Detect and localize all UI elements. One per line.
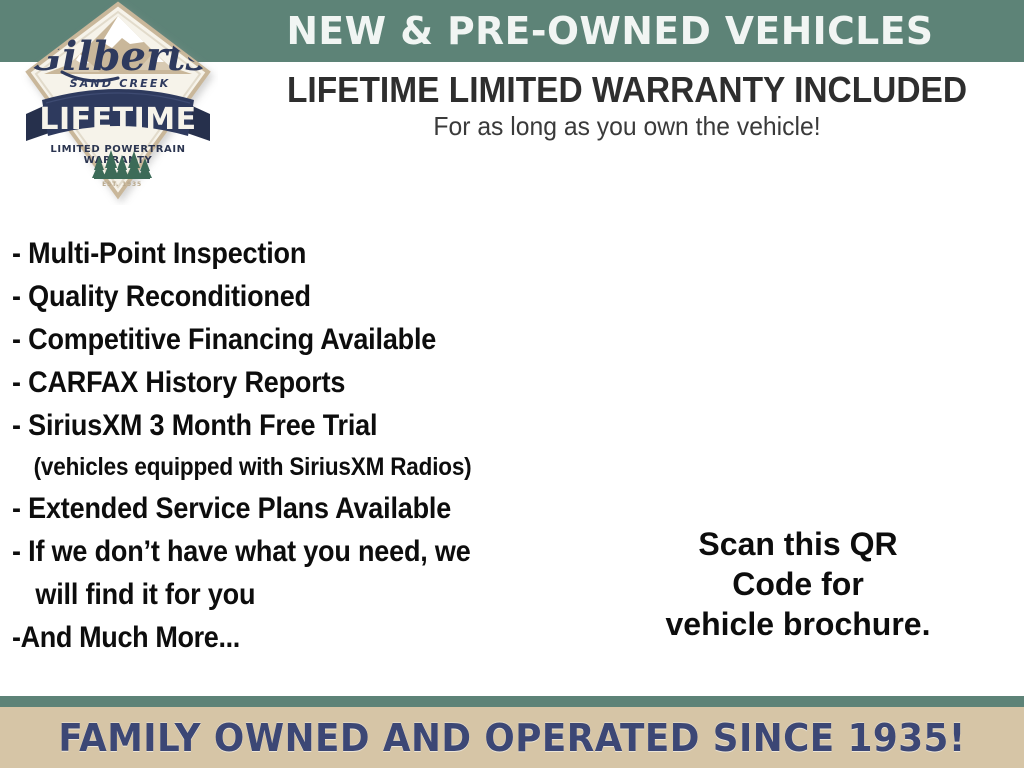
list-item: - Quality Reconditioned	[12, 275, 552, 318]
list-item-continuation: will find it for you	[12, 573, 552, 616]
list-item: - SiriusXM 3 Month Free Trial	[12, 404, 552, 447]
list-item: - Extended Service Plans Available	[12, 487, 552, 530]
established-year: EST. 1935	[102, 181, 142, 188]
feature-list: - Multi-Point Inspection - Quality Recon…	[12, 232, 612, 659]
gilberts-lifetime-warranty-logo: Gilberts SAND CREEK LIFETIME LIMITED POW…	[18, 0, 218, 205]
list-item: - Competitive Financing Available	[12, 318, 552, 361]
list-item: - CARFAX History Reports	[12, 361, 552, 404]
list-item: - Multi-Point Inspection	[12, 232, 552, 275]
warranty-headline: LIFETIME LIMITED WARRANTY INCLUDED	[263, 70, 990, 110]
svg-text:Gilberts: Gilberts	[28, 33, 208, 80]
footer-accent-stripe	[0, 696, 1024, 707]
qr-code-caption: Scan this QR Code for vehicle brochure.	[600, 524, 996, 644]
warranty-line-1: LIMITED POWERTRAIN	[50, 144, 185, 155]
brand-script: Gilberts	[28, 33, 208, 81]
qr-caption-line-2: Code for	[600, 564, 996, 604]
qr-caption-line-3: vehicle brochure.	[600, 604, 996, 644]
list-item: -And Much More...	[12, 616, 552, 659]
warranty-line-2: WARRANTY	[84, 155, 153, 166]
svg-text:LIFETIME: LIFETIME	[39, 102, 196, 137]
header-title: NEW & PRE-OWNED VEHICLES	[254, 0, 967, 62]
list-item-note: (vehicles equipped with SiriusXM Radios)	[12, 447, 552, 487]
qr-caption-line-1: Scan this QR	[600, 524, 996, 564]
ad-slide: NEW & PRE-OWNED VEHICLES LIFETIME LIMITE…	[0, 0, 1024, 768]
list-item: - If we don’t have what you need, we	[12, 530, 552, 573]
footer-tagline: FAMILY OWNED AND OPERATED SINCE 1935!	[31, 707, 994, 768]
warranty-subline: For as long as you own the vehicle!	[256, 110, 999, 142]
brand-location: SAND CREEK	[70, 77, 171, 90]
